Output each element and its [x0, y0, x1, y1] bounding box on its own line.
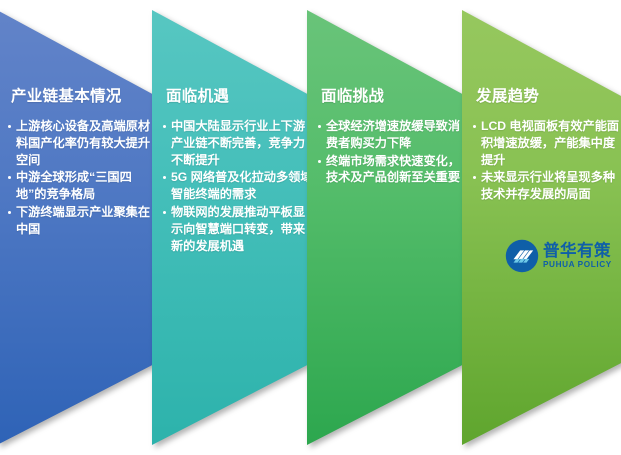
panel-content: 面临机遇 中国大陆显示行业上下游产业链不断完善，竞争力不断提升 5G 网络普及化… — [152, 0, 327, 455]
brand-name-en: PUHUA POLICY — [543, 261, 612, 269]
bullet-item: 物联网的发展推动平板显示向智慧端口转变，带来新的发展机遇 — [162, 204, 317, 254]
panel-content: 面临挑战 全球经济增速放缓导致消费者购买力下降 终端市场需求快速变化，技术及产品… — [307, 0, 482, 455]
panel-content: 发展趋势 LCD 电视面板有效产能面积增速放缓，产能集中度提升 未来显示行业将呈… — [462, 0, 621, 455]
bullet-item: 中游全球形成“三国四地”的竞争格局 — [7, 169, 162, 203]
bullet-item: 全球经济增速放缓导致消费者购买力下降 — [317, 118, 472, 152]
infographic-banner: 产业链基本情况 上游核心设备及高端原材料国产化率仍有较大提升空间 中游全球形成“… — [0, 0, 621, 455]
panel-bullet-list: 全球经济增速放缓导致消费者购买力下降 终端市场需求快速变化，技术及产品创新至关重… — [317, 118, 472, 187]
panel-title: 发展趋势 — [476, 88, 539, 107]
bullet-item: 终端市场需求快速变化，技术及产品创新至关重要 — [317, 153, 472, 187]
panel-title: 产业链基本情况 — [11, 88, 122, 107]
bullet-item: 上游核心设备及高端原材料国产化率仍有较大提升空间 — [7, 118, 162, 168]
panel-challenges[interactable]: 面临挑战 全球经济增速放缓导致消费者购买力下降 终端市场需求快速变化，技术及产品… — [307, 0, 482, 455]
bullet-item: 5G 网络普及化拉动多领域智能终端的需求 — [162, 169, 317, 203]
bullet-item: 下游终端显示产业聚集在中国 — [7, 204, 162, 238]
bullet-item: 中国大陆显示行业上下游产业链不断完善，竞争力不断提升 — [162, 118, 317, 168]
panel-bullet-list: LCD 电视面板有效产能面积增速放缓，产能集中度提升 未来显示行业将呈现多种技术… — [472, 118, 621, 204]
panel-title: 面临挑战 — [321, 88, 384, 107]
brand-name-cn: 普华有策 — [543, 243, 612, 260]
panel-industry-chain-overview[interactable]: 产业链基本情况 上游核心设备及高端原材料国产化率仍有较大提升空间 中游全球形成“… — [0, 0, 172, 455]
panel-opportunities[interactable]: 面临机遇 中国大陆显示行业上下游产业链不断完善，竞争力不断提升 5G 网络普及化… — [152, 0, 327, 455]
bullet-item: LCD 电视面板有效产能面积增速放缓，产能集中度提升 — [472, 118, 621, 168]
panel-bullet-list: 中国大陆显示行业上下游产业链不断完善，竞争力不断提升 5G 网络普及化拉动多领域… — [162, 118, 317, 256]
panel-title: 面临机遇 — [166, 88, 229, 107]
brand-wordmark: 普华有策 PUHUA POLICY — [543, 243, 612, 270]
puhua-logo-icon — [505, 239, 539, 273]
panel-bullet-list: 上游核心设备及高端原材料国产化率仍有较大提升空间 中游全球形成“三国四地”的竞争… — [7, 118, 162, 239]
bullet-item: 未来显示行业将呈现多种技术并存发展的局面 — [472, 169, 621, 203]
panel-development-trends[interactable]: 发展趋势 LCD 电视面板有效产能面积增速放缓，产能集中度提升 未来显示行业将呈… — [462, 0, 621, 455]
panel-content: 产业链基本情况 上游核心设备及高端原材料国产化率仍有较大提升空间 中游全球形成“… — [0, 0, 172, 455]
brand-watermark: 普华有策 PUHUA POLICY — [505, 236, 617, 276]
